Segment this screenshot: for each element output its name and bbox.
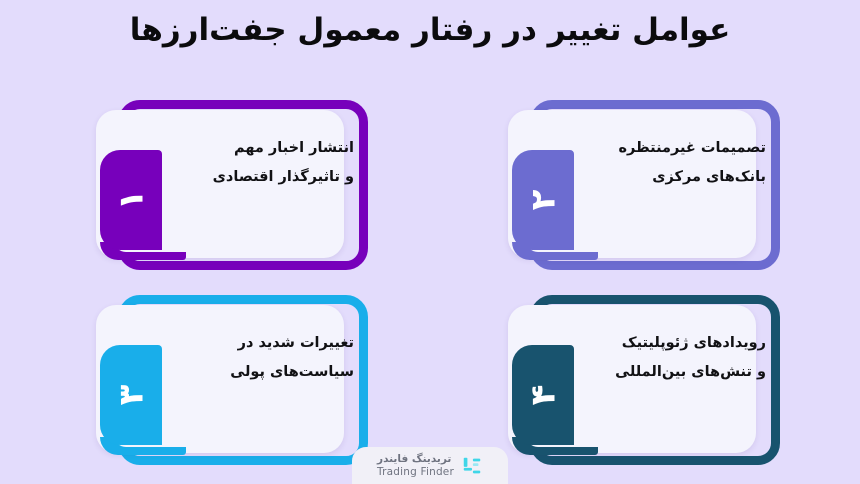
trading-finder-logo-icon — [461, 455, 483, 477]
card-4: ۴ رویدادهای ژئوپلیتیک و تنش‌های بین‌المل… — [508, 287, 780, 465]
infographic-poster: عوامل تغییر در رفتار معمول جفت‌ارزها ۱ ا… — [0, 0, 860, 484]
card-3: ۳ تغییرات شدید در سیاست‌های پولی — [96, 287, 368, 465]
card-1-text: انتشار اخبار مهم و تاثیرگذار اقتصادی — [194, 134, 354, 192]
card-4-number: ۴ — [526, 385, 560, 406]
card-1-number-badge: ۱ — [100, 150, 162, 250]
card-4-number-badge: ۴ — [512, 345, 574, 445]
card-grid: ۱ انتشار اخبار مهم و تاثیرگذار اقتصادی ۲… — [0, 92, 860, 484]
page-title: عوامل تغییر در رفتار معمول جفت‌ارزها — [0, 10, 860, 52]
card-1-line-2: و تاثیرگذار اقتصادی — [194, 163, 354, 192]
card-1-line-1: انتشار اخبار مهم — [194, 134, 354, 163]
card-2-line-1: تصمیمات غیرمنتظره — [606, 134, 766, 163]
card-3-text: تغییرات شدید در سیاست‌های پولی — [194, 329, 354, 387]
card-2-line-2: بانک‌های مرکزی — [606, 163, 766, 192]
card-4-text: رویدادهای ژئوپلیتیک و تنش‌های بین‌المللی — [606, 329, 766, 387]
card-2: ۲ تصمیمات غیرمنتظره بانک‌های مرکزی — [508, 92, 780, 270]
card-1-number: ۱ — [114, 190, 148, 211]
card-3-number: ۳ — [114, 385, 148, 406]
card-4-line-1: رویدادهای ژئوپلیتیک — [606, 329, 766, 358]
watermark-text: تریدینگ فایندر Trading Finder — [377, 453, 454, 477]
watermark-logo-plate: تریدینگ فایندر Trading Finder — [352, 447, 508, 484]
card-3-line-1: تغییرات شدید در — [194, 329, 354, 358]
watermark-name-en: Trading Finder — [377, 466, 454, 478]
card-3-number-badge: ۳ — [100, 345, 162, 445]
card-1: ۱ انتشار اخبار مهم و تاثیرگذار اقتصادی — [96, 92, 368, 270]
card-2-text: تصمیمات غیرمنتظره بانک‌های مرکزی — [606, 134, 766, 192]
card-4-line-2: و تنش‌های بین‌المللی — [606, 358, 766, 387]
card-2-number: ۲ — [526, 190, 560, 211]
watermark-name-fa: تریدینگ فایندر — [377, 453, 451, 465]
card-2-number-badge: ۲ — [512, 150, 574, 250]
card-3-line-2: سیاست‌های پولی — [194, 358, 354, 387]
